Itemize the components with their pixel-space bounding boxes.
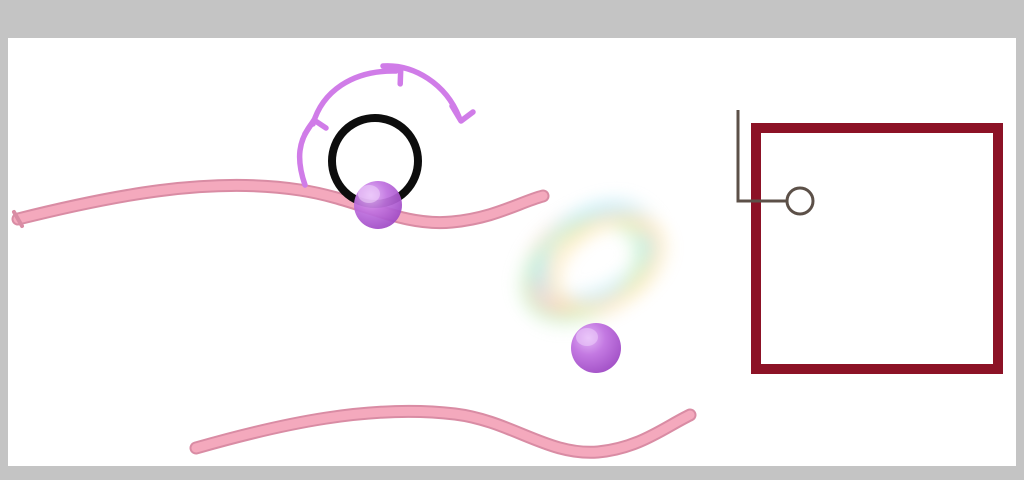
illustration-root [0, 0, 1024, 480]
diagram-canvas [8, 38, 1016, 466]
title-bar [0, 0, 1024, 38]
